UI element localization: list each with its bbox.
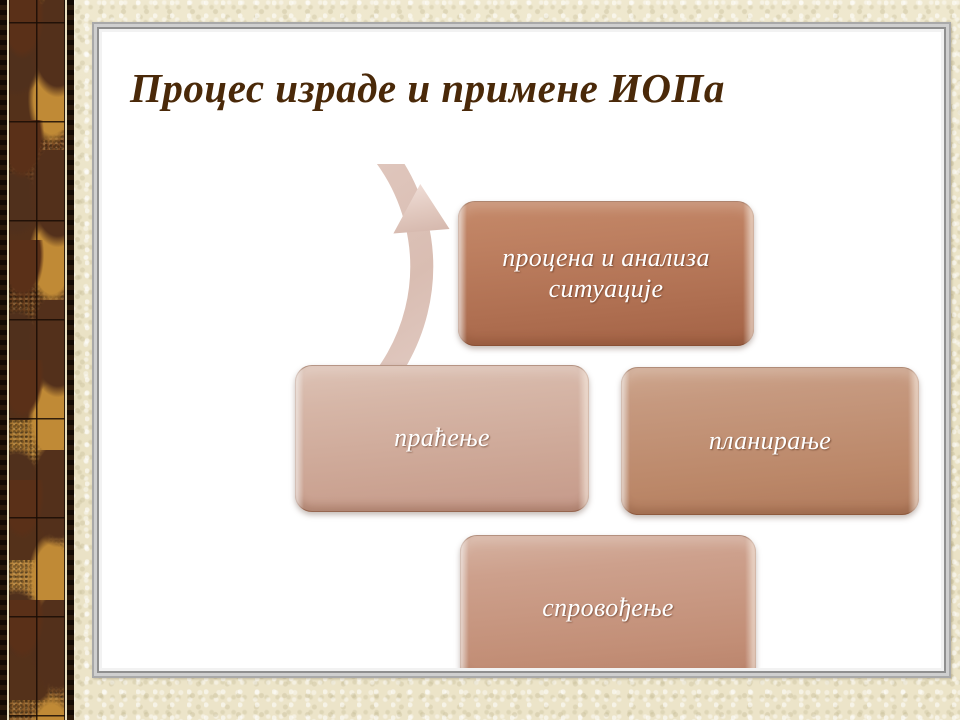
- slide-canvas: Процес израде и примене ИОПа: [102, 32, 941, 668]
- slide-frame-inner-border: Процес израде и примене ИОПа: [97, 27, 946, 673]
- strip-grid-overlay: [9, 0, 65, 720]
- cycle-step-monitoring[interactable]: праћење: [295, 365, 589, 512]
- cycle-step-planning-label: планирање: [697, 426, 843, 456]
- cycle-step-implementation[interactable]: спровођење: [460, 535, 756, 668]
- cycle-step-monitoring-label: праћење: [382, 423, 502, 453]
- cycle-step-assessment-label: процена и анализа ситуације: [458, 243, 754, 303]
- cycle-step-assessment[interactable]: процена и анализа ситуације: [458, 201, 754, 346]
- cycle-step-planning[interactable]: планирање: [621, 367, 919, 515]
- decorative-texture-strip: [0, 0, 74, 720]
- slide-frame: Процес израде и примене ИОПа: [92, 22, 951, 678]
- cycle-diagram: процена и анализа ситуације планирање сп…: [102, 32, 941, 668]
- cycle-step-implementation-label: спровођење: [530, 593, 686, 623]
